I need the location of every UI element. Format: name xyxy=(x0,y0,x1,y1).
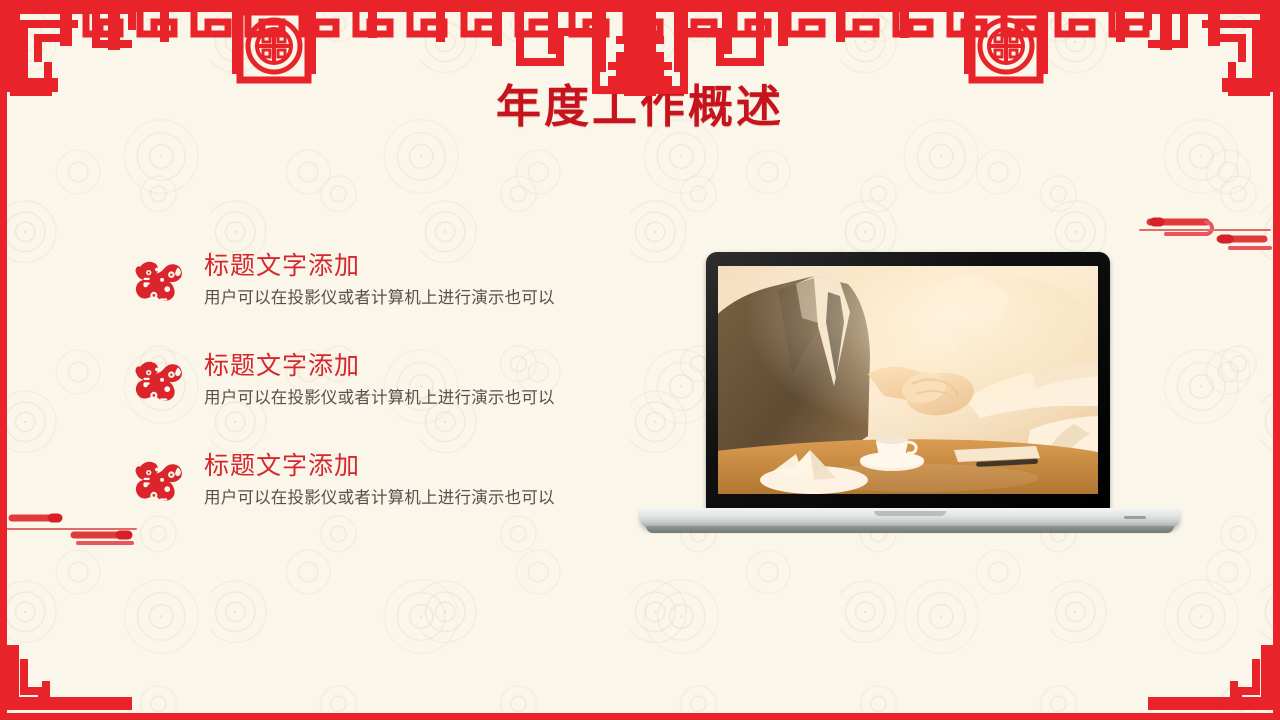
laptop-lid xyxy=(706,252,1110,510)
cloud-motif-left xyxy=(0,485,140,565)
list-item[interactable]: 标题文字添加 用户可以在投影仪或者计算机上进行演示也可以 xyxy=(126,350,626,418)
feature-title: 标题文字添加 xyxy=(204,452,626,482)
cloud-motif-right xyxy=(1130,196,1280,271)
feature-title: 标题文字添加 xyxy=(204,352,626,382)
feature-text-block: 标题文字添加 用户可以在投影仪或者计算机上进行演示也可以 xyxy=(204,250,626,309)
frame-edge-bottom xyxy=(0,713,1280,720)
list-item[interactable]: 标题文字添加 用户可以在投影仪或者计算机上进行演示也可以 xyxy=(126,450,626,518)
business-handshake-photo xyxy=(718,266,1098,494)
laptop-trackpad-notch xyxy=(874,511,946,516)
feature-description: 用户可以在投影仪或者计算机上进行演示也可以 xyxy=(204,287,626,309)
laptop-mockup xyxy=(640,252,1180,542)
feature-text-block: 标题文字添加 用户可以在投影仪或者计算机上进行演示也可以 xyxy=(204,350,626,409)
feature-title: 标题文字添加 xyxy=(204,252,626,282)
frame-edge-right xyxy=(1273,0,1280,720)
top-lattice-border xyxy=(0,0,1280,96)
feature-text-block: 标题文字添加 用户可以在投影仪或者计算机上进行演示也可以 xyxy=(204,450,626,509)
feature-list: 标题文字添加 用户可以在投影仪或者计算机上进行演示也可以 xyxy=(126,250,626,518)
laptop-base xyxy=(640,508,1180,528)
chinese-papercut-figure-icon xyxy=(126,252,192,318)
presentation-slide: 年度工作概述 xyxy=(0,0,1280,720)
feature-description: 用户可以在投影仪或者计算机上进行演示也可以 xyxy=(204,487,626,509)
list-item[interactable]: 标题文字添加 用户可以在投影仪或者计算机上进行演示也可以 xyxy=(126,250,626,318)
laptop-screen xyxy=(718,266,1098,494)
frame-edge-left xyxy=(0,0,7,720)
feature-description: 用户可以在投影仪或者计算机上进行演示也可以 xyxy=(204,387,626,409)
corner-bracket-bottom-left xyxy=(0,645,140,720)
corner-bracket-bottom-right xyxy=(1140,645,1280,720)
chinese-papercut-figure-icon xyxy=(126,352,192,418)
laptop-side-port xyxy=(1124,516,1146,519)
laptop-foot xyxy=(646,526,1174,533)
